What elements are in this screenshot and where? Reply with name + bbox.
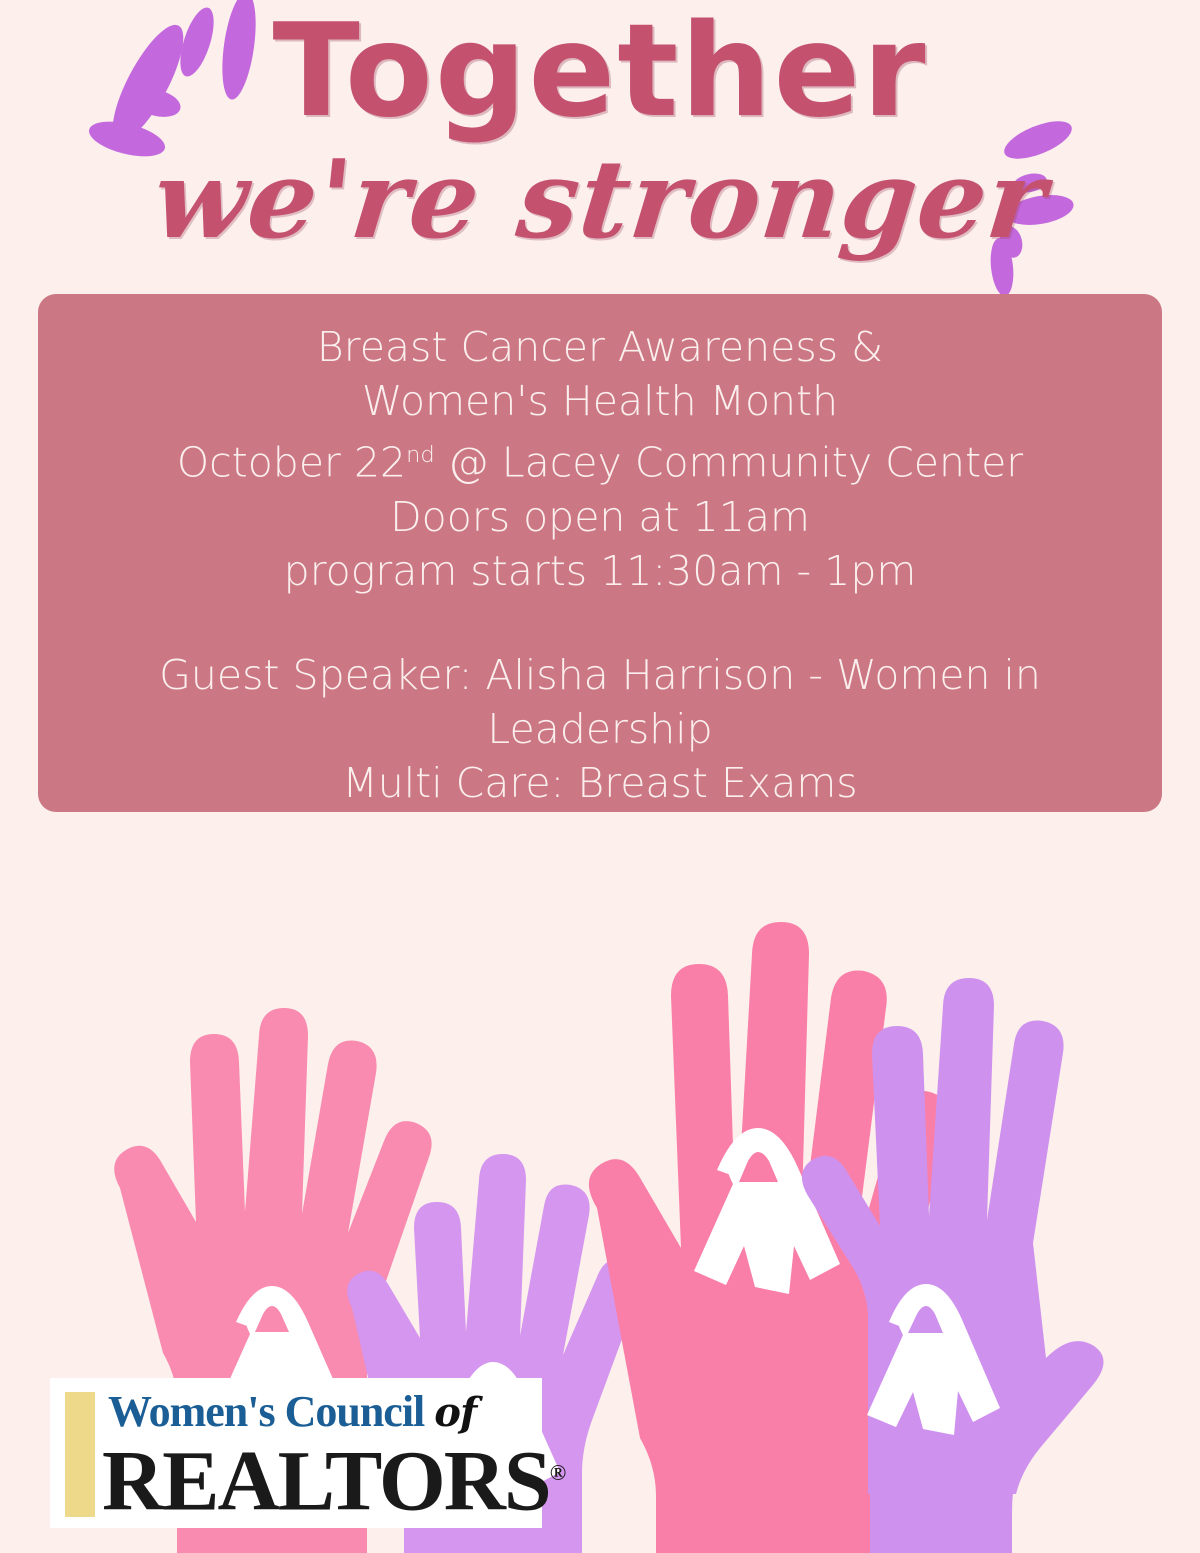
logo-text-womens-council: Women's Council xyxy=(108,1387,424,1436)
date-prefix: October 22 xyxy=(177,439,406,487)
detail-line-doors-open: Doors open at 11am xyxy=(78,490,1122,544)
detail-line-guest-speaker-1: Guest Speaker: Alisha Harrison - Women i… xyxy=(78,648,1122,702)
logo-text-realtors: REALTORS xyxy=(102,1433,550,1529)
event-flyer: Together we're stronger Breast Cancer Aw… xyxy=(0,0,1200,1553)
logo-text-of: of xyxy=(434,1389,476,1436)
venue-suffix: @ Lacey Community Center xyxy=(435,439,1023,487)
logo-line-realtors: REALTORS® xyxy=(102,1430,566,1524)
detail-line-event-name-2: Women's Health Month xyxy=(78,374,1122,428)
event-details-card: Breast Cancer Awareness & Women's Health… xyxy=(38,294,1162,812)
logo-gold-bar-icon xyxy=(65,1392,95,1517)
detail-line-date-venue: October 22nd @ Lacey Community Center xyxy=(78,428,1122,490)
detail-line-guest-speaker-2: Leadership xyxy=(78,702,1122,756)
organization-logo: Women's Council of REALTORS® xyxy=(50,1378,542,1528)
detail-line-program-time: program starts 11:30am - 1pm xyxy=(78,544,1122,598)
registered-trademark-icon: ® xyxy=(550,1460,566,1485)
page-subtitle: we're stronger xyxy=(0,146,1200,254)
detail-line-multicare: Multi Care: Breast Exams xyxy=(78,756,1122,810)
flyer-header: Together we're stronger xyxy=(0,0,1200,292)
page-title: Together xyxy=(0,8,1200,136)
detail-line-event-name-1: Breast Cancer Awareness & xyxy=(78,320,1122,374)
detail-spacer xyxy=(78,598,1122,648)
date-ordinal: nd xyxy=(406,442,435,468)
